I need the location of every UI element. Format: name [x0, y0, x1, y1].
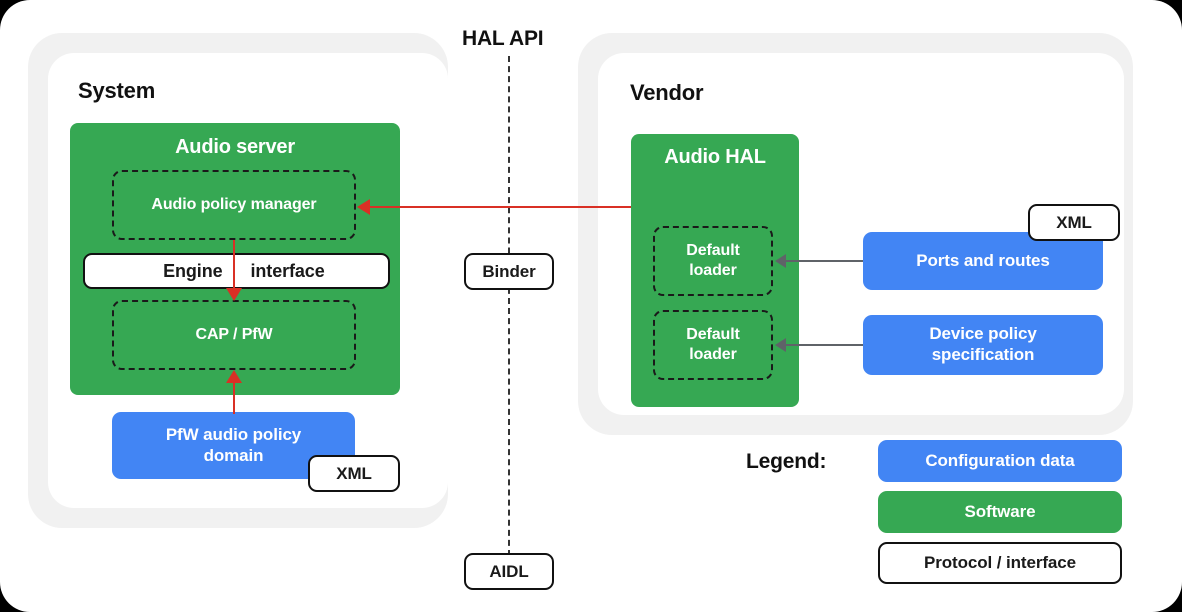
default-loader-box-1: Default loader: [653, 226, 773, 296]
vendor-title: Vendor: [630, 80, 703, 106]
vendor-xml-badge: XML: [1028, 204, 1120, 241]
default-loader-1-line2: loader: [689, 261, 736, 281]
pfw-audio-policy-domain-line1: PfW audio policy: [166, 425, 301, 446]
connector-pfw-to-cappfw: [233, 382, 235, 414]
device-policy-specification-box: Device policy specification: [863, 315, 1103, 375]
binder-label: Binder: [482, 262, 535, 282]
aidl-pill: AIDL: [464, 553, 554, 590]
legend-chip-configuration-data: Configuration data: [878, 440, 1122, 482]
ports-and-routes-label: Ports and routes: [916, 251, 1049, 272]
legend-chip-software: Software: [878, 491, 1122, 533]
hal-api-divider-line: [508, 56, 510, 556]
engine-label: Engine: [163, 255, 236, 287]
connector-ports-to-loader: [785, 260, 863, 262]
connector-hal-to-apm: [369, 206, 631, 208]
hal-api-title: HAL API: [462, 27, 543, 51]
interface-label: interface: [237, 255, 325, 287]
legend-label-software: Software: [965, 502, 1036, 522]
binder-pill: Binder: [464, 253, 554, 290]
arrow-apm-to-cappfw: [226, 288, 242, 301]
default-loader-2-line2: loader: [689, 345, 736, 365]
audio-policy-manager-label: Audio policy manager: [151, 195, 316, 215]
audio-policy-manager-box: Audio policy manager: [112, 170, 356, 240]
legend-chip-protocol-interface: Protocol / interface: [878, 542, 1122, 584]
arrow-devicepolicy-to-loader: [775, 338, 786, 352]
default-loader-box-2: Default loader: [653, 310, 773, 380]
device-policy-specification-line1: Device policy: [929, 324, 1036, 345]
connector-devicepolicy-to-loader: [785, 344, 863, 346]
arrow-ports-to-loader: [775, 254, 786, 268]
diagram-canvas: System Audio server Audio policy manager…: [0, 0, 1182, 612]
system-xml-badge-label: XML: [336, 464, 372, 484]
cap-pfw-box: CAP / PfW: [112, 300, 356, 370]
system-title: System: [78, 78, 155, 104]
audio-hal-title: Audio HAL: [631, 146, 799, 169]
arrow-pfw-to-cappfw: [226, 370, 242, 383]
legend-label-configuration-data: Configuration data: [925, 451, 1074, 471]
audio-server-title: Audio server: [70, 136, 400, 159]
system-xml-badge: XML: [308, 455, 400, 492]
cap-pfw-label: CAP / PfW: [195, 325, 272, 345]
default-loader-2-line1: Default: [686, 325, 740, 345]
legend-label-protocol-interface: Protocol / interface: [924, 553, 1076, 573]
engine-interface-pill: Engine interface: [83, 253, 390, 289]
device-policy-specification-line2: specification: [932, 345, 1035, 366]
legend-title: Legend:: [746, 450, 826, 474]
default-loader-1-line1: Default: [686, 241, 740, 261]
aidl-label: AIDL: [489, 562, 528, 582]
connector-apm-to-cappfw: [233, 240, 235, 290]
arrow-hal-to-apm: [357, 199, 370, 215]
pfw-audio-policy-domain-line2: domain: [204, 446, 264, 467]
vendor-xml-badge-label: XML: [1056, 213, 1092, 233]
